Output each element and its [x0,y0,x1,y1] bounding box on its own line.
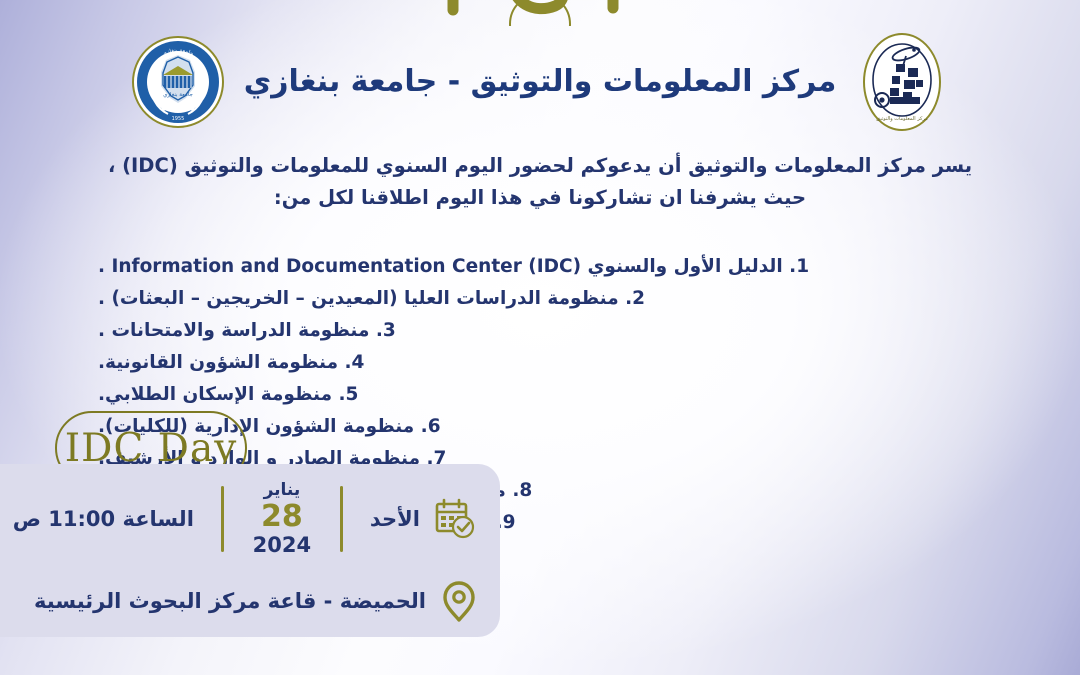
event-date-row: الأحد يناير 28 2024 الساعة 11:00 ص [13,476,476,562]
list-item: 1. الدليل الأول والسنوي (Information and… [98,251,1018,283]
list-item-number: 9 [503,512,516,533]
intro-line-1: يسر مركز المعلومات والتوثيق أن يدعوكم لح… [0,150,1080,182]
poster-header: مركز المعلومات والتوثيق مركز المعلومات و… [0,26,1080,138]
list-item-number: 5 [346,384,359,405]
list-item: 5. منظومة الإسكان الطلابي. [98,379,1018,411]
list-item-label: . منظومة الدراسة والامتحانات . [98,320,383,341]
list-item-number: 1 [796,256,809,277]
event-poster: مركز المعلومات والتوثيق مركز المعلومات و… [0,0,1080,675]
idc-center-logo: مركز المعلومات والتوثيق [854,28,950,136]
list-item: 4. منظومة الشؤون القانونية. [98,347,1018,379]
intro-paragraph: يسر مركز المعلومات والتوثيق أن يدعوكم لح… [0,150,1080,213]
map-pin-icon [442,580,476,622]
calendar-check-icon [434,498,476,540]
list-item-label: . منظومة الدراسات العليا (المعيدين – الخ… [98,288,632,309]
list-item: 2. منظومة الدراسات العليا (المعيدين – ال… [98,283,1018,315]
svg-text:جامعة بنغازي: جامعة بنغازي [163,92,193,98]
event-info-card: الأحد يناير 28 2024 الساعة 11:00 ص الحمي… [0,464,500,637]
page-title: مركز المعلومات والتوثيق - جامعة بنغازي [244,65,837,100]
list-item-label: . منظومة الشؤون القانونية. [98,352,352,373]
event-time: الساعة 11:00 ص [13,507,194,531]
event-day: 28 [261,501,303,533]
divider [340,486,343,552]
top-cropped-olive-mark [415,0,665,26]
intro-line-2: حيث يشرفنا ان تشاركونا في هذا اليوم اطلا… [0,182,1080,214]
event-year: 2024 [253,534,311,556]
list-item-number: 8 [519,480,532,501]
list-item-number: 4 [352,352,365,373]
list-item: 3. منظومة الدراسة والامتحانات . [98,315,1018,347]
list-item-label: . الدليل الأول والسنوي (Information and … [98,256,796,277]
list-item-number: 6 [428,416,441,437]
list-item-number: 2 [632,288,645,309]
divider [221,486,224,552]
list-item-number: 3 [383,320,396,341]
list-item-label: . منظومة الإسكان الطلابي. [98,384,346,405]
svg-text:1955: 1955 [171,116,184,122]
event-month: يناير [264,482,301,500]
svg-text:مركز المعلومات والتوثيق: مركز المعلومات والتوثيق [876,116,928,122]
event-date-block: يناير 28 2024 [251,482,313,555]
event-location-row: الحميضة - قاعة مركز البحوث الرئيسية [34,576,476,626]
university-of-benghazi-seal: جامعة بنغازي [130,32,226,132]
event-weekday: الأحد [370,507,420,531]
event-location: الحميضة - قاعة مركز البحوث الرئيسية [34,589,426,613]
